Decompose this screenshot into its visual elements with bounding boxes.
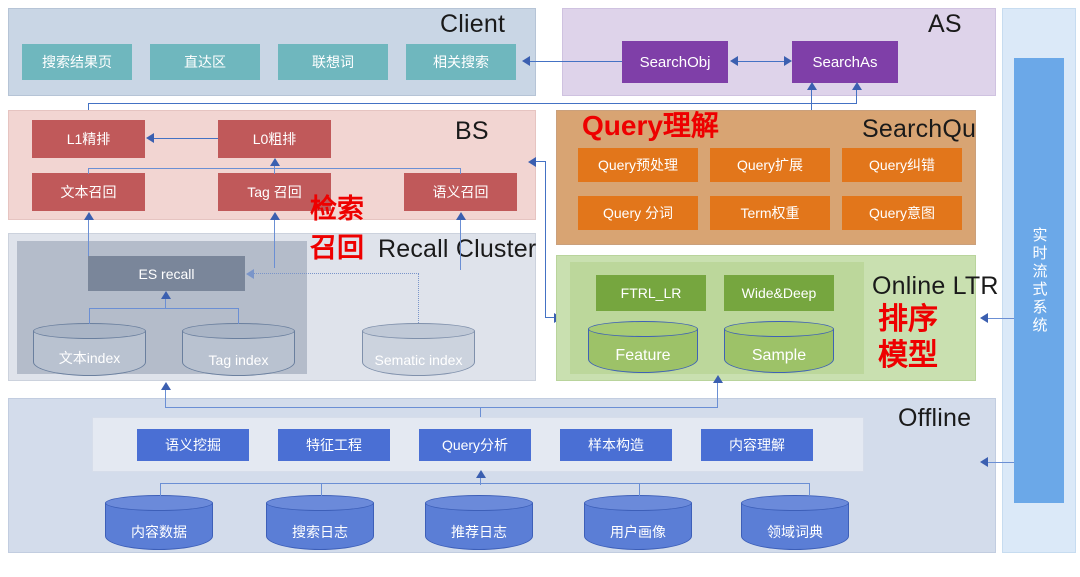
searchqu-box-intent[interactable]: Query意图	[842, 196, 962, 230]
arrowhead-up-searchas-a	[807, 82, 817, 90]
as-box-searchas[interactable]: SearchAs	[792, 41, 898, 83]
arrowhead-offline-to-ltr	[713, 375, 723, 383]
cylinder-cap	[266, 495, 374, 511]
bus-drop-semantic	[460, 168, 461, 174]
bus-esrecall-drop	[165, 299, 166, 309]
cylinder-label: Tag index	[209, 352, 269, 376]
bus-index-to-esrecall	[89, 308, 239, 309]
arrowhead-to-text-recall	[84, 212, 94, 220]
ltr-cylinder-feature[interactable]: Feature	[588, 321, 698, 373]
arrowhead-to-semantic-recall	[456, 212, 466, 220]
line-stream-to-ltr	[986, 318, 1014, 319]
cylinder-label: 用户画像	[610, 522, 666, 550]
panel-bs-title: BS	[455, 117, 489, 146]
architecture-diagram: Client 搜索结果页 直达区 联想词 相关搜索 AS SearchObj S…	[0, 0, 1080, 577]
realtime-stream-box[interactable]: 实时流式系统	[1014, 58, 1064, 503]
cylinder-cap	[741, 495, 849, 511]
bs-box-text-recall[interactable]: 文本召回	[32, 173, 145, 211]
searchqu-box-expansion[interactable]: Query扩展	[710, 148, 830, 182]
recall-cylinder-tag-index[interactable]: Tag index	[182, 323, 295, 376]
bs-box-l1[interactable]: L1精排	[32, 120, 145, 158]
arrowhead-searchobj-to-searchas	[784, 56, 792, 66]
arrowhead-sources-to-offline	[476, 470, 486, 478]
offline-box-feature-engineering[interactable]: 特征工程	[278, 429, 390, 461]
arrowhead-searchas-to-searchobj	[730, 56, 738, 66]
offline-cylinder-user-profile[interactable]: 用户画像	[584, 495, 692, 550]
cylinder-cap	[33, 323, 146, 339]
cylinder-label: 文本index	[59, 348, 120, 376]
client-box-related-search[interactable]: 相关搜索	[406, 44, 516, 80]
recall-cylinder-sematic-index[interactable]: Sematic index	[362, 323, 475, 376]
cylinder-label: Sematic index	[375, 352, 463, 376]
recall-box-es-recall[interactable]: ES recall	[88, 256, 245, 291]
cylinder-cap	[182, 323, 295, 339]
client-box-direct-area[interactable]: 直达区	[150, 44, 260, 80]
line-bs-ltr-vertical	[545, 161, 546, 318]
arrowhead-stream-to-offline	[980, 457, 988, 467]
panel-ltr-title: Online LTR	[872, 272, 999, 301]
as-box-searchobj[interactable]: SearchObj	[622, 41, 728, 83]
cylinder-cap	[105, 495, 213, 511]
line-bs-to-searchas-v	[856, 90, 857, 104]
line-l0-to-l1	[152, 138, 218, 139]
cylinder-label: Feature	[615, 347, 670, 373]
ltr-cylinder-sample[interactable]: Sample	[724, 321, 834, 373]
panel-client-title: Client	[440, 10, 505, 39]
line-bs-to-searchas-h	[88, 103, 857, 104]
offline-cylinder-search-log[interactable]: 搜索日志	[266, 495, 374, 550]
panel-as-title: AS	[928, 10, 962, 39]
bus-drop-content-data	[160, 483, 161, 496]
offline-box-semantic-mining[interactable]: 语义挖掘	[137, 429, 249, 461]
bs-red-label: 检索	[310, 196, 364, 223]
client-box-search-result[interactable]: 搜索结果页	[22, 44, 132, 80]
bus-drop-text	[88, 168, 89, 174]
panel-searchqu-title: SearchQu	[862, 115, 976, 144]
recall-red-label: 召回	[310, 235, 364, 262]
offline-box-sample-construction[interactable]: 样本构造	[560, 429, 672, 461]
bus-rise-l0	[274, 166, 275, 174]
arrowhead-dotted-to-esrecall	[246, 269, 254, 279]
bus-rise-tag-index	[238, 308, 239, 324]
arrowhead-up-searchas-b	[852, 82, 862, 90]
line-recall-to-tagrecall	[274, 218, 275, 268]
cylinder-label: 推荐日志	[451, 522, 507, 550]
searchqu-box-segmentation[interactable]: Query 分词	[578, 196, 698, 230]
bs-box-l0[interactable]: L0粗排	[218, 120, 331, 158]
arrowhead-to-tag-recall	[270, 212, 280, 220]
bus-rise-to-offline-inner	[480, 478, 481, 485]
offline-box-query-analysis[interactable]: Query分析	[419, 429, 531, 461]
cylinder-cap	[724, 321, 834, 337]
offline-cylinder-domain-dict[interactable]: 领域词典	[741, 495, 849, 550]
cylinder-label: Sample	[752, 347, 806, 373]
arrowhead-to-client	[522, 56, 530, 66]
searchqu-box-preprocess[interactable]: Query预处理	[578, 148, 698, 182]
searchqu-box-term-weight[interactable]: Term权重	[710, 196, 830, 230]
searchqu-red-label: Query理解	[582, 112, 719, 140]
arrowhead-into-bs-right	[528, 157, 536, 167]
bus-drop-search-log	[321, 483, 322, 496]
bus-offline-to-online	[165, 407, 718, 408]
panel-offline-title: Offline	[898, 404, 971, 433]
line-stream-to-offline	[986, 462, 1014, 463]
bus-rise-text-index	[89, 308, 90, 324]
cylinder-cap	[425, 495, 533, 511]
searchqu-box-correction[interactable]: Query纠错	[842, 148, 962, 182]
bs-box-semantic-recall[interactable]: 语义召回	[404, 173, 517, 211]
arrowhead-index-to-esrecall	[161, 291, 171, 299]
recall-cylinder-text-index[interactable]: 文本index	[33, 323, 146, 376]
cylinder-label: 领域词典	[767, 522, 823, 550]
ltr-box-wide-and-deep[interactable]: Wide&Deep	[724, 275, 834, 311]
offline-cylinder-content-data[interactable]: 内容数据	[105, 495, 213, 550]
arrow-searchobj-searchas	[736, 61, 786, 62]
bus-offline-up-stem	[480, 407, 481, 417]
arrowhead-offline-to-recall	[161, 382, 171, 390]
offline-cylinder-recommend-log[interactable]: 推荐日志	[425, 495, 533, 550]
line-to-semantic-recall	[460, 218, 461, 270]
arrow-searchobj-to-client	[528, 61, 622, 62]
panel-recall-title: Recall Cluster	[378, 235, 536, 264]
bus-drop-domain-dict	[809, 483, 810, 496]
ltr-red-label-line2: 模型	[878, 341, 938, 371]
cylinder-cap	[362, 323, 475, 339]
dotted-sematic-vertical	[418, 273, 419, 323]
offline-box-content-understanding[interactable]: 内容理解	[701, 429, 813, 461]
ltr-box-ftrl-lr[interactable]: FTRL_LR	[596, 275, 706, 311]
cylinder-label: 搜索日志	[292, 522, 348, 550]
cylinder-cap	[584, 495, 692, 511]
bus-sources-to-offline	[160, 483, 810, 484]
client-box-suggestion[interactable]: 联想词	[278, 44, 388, 80]
cylinder-cap	[588, 321, 698, 337]
cylinder-label: 内容数据	[131, 522, 187, 550]
line-text-index-to-textrecall	[88, 218, 89, 256]
line-offline-to-recall	[165, 390, 166, 408]
arrowhead-bus-to-l0	[270, 158, 280, 166]
arrowhead-l0-to-l1	[146, 133, 154, 143]
ltr-red-label-line1: 排序	[878, 305, 938, 335]
dotted-sematic-horizontal	[252, 273, 419, 274]
arrowhead-stream-to-ltr	[980, 313, 988, 323]
bus-drop-user-profile	[639, 483, 640, 496]
line-offline-to-ltr	[717, 383, 718, 408]
